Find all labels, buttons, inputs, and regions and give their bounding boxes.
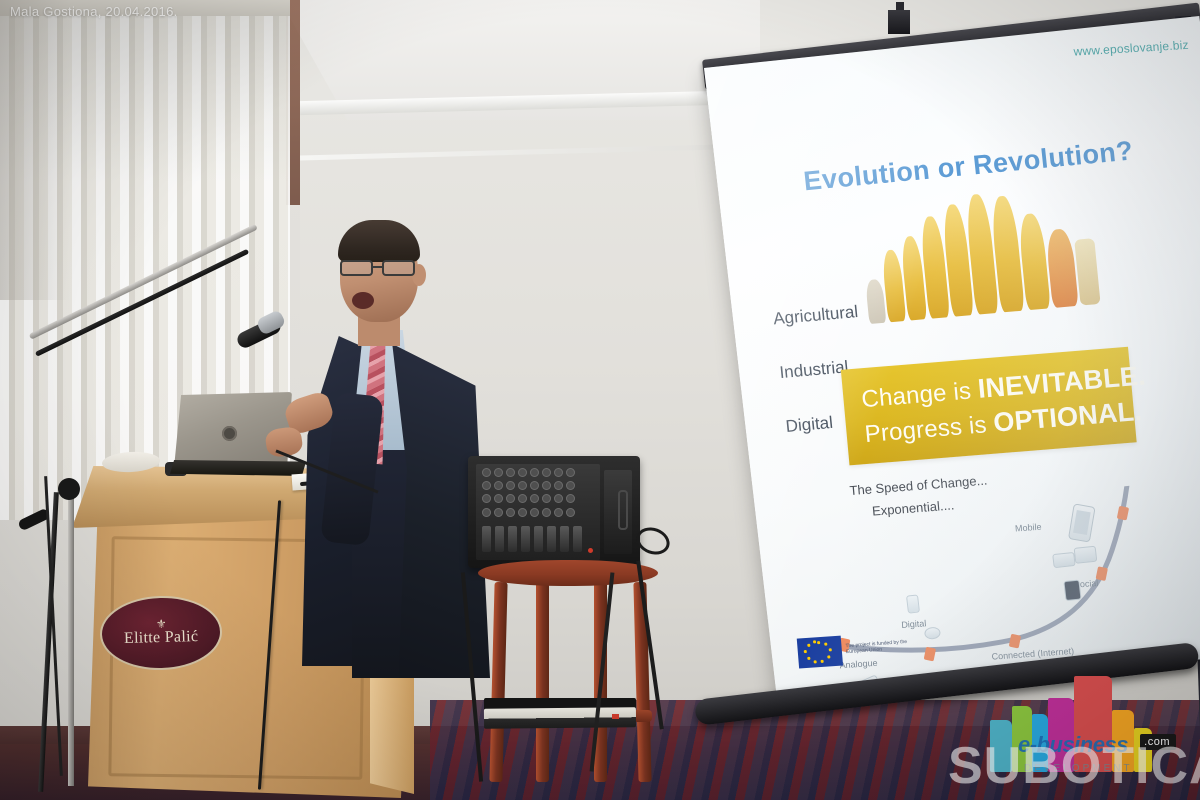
curve-label-mobile: Mobile bbox=[1015, 522, 1042, 534]
projected-slide: www.eposlovanje.biz Evolution or Revolut… bbox=[704, 16, 1200, 704]
mixer-knob-row-3[interactable] bbox=[482, 494, 598, 503]
laptop-base bbox=[170, 460, 306, 476]
projection-screen-assembly: www.eposlovanje.biz Evolution or Revolut… bbox=[690, 10, 1200, 770]
mixer-fader-row[interactable] bbox=[482, 526, 598, 552]
quote-2-bold: OPTIONAL. bbox=[992, 396, 1143, 438]
photo-caption: Mala Gostiona, 20.04.2016. bbox=[10, 4, 178, 19]
pc-icon bbox=[906, 594, 920, 613]
table-top bbox=[478, 560, 658, 586]
mixer-knob-row-4[interactable] bbox=[482, 508, 598, 517]
twitter-icon bbox=[1052, 552, 1075, 568]
mixer-handle[interactable] bbox=[618, 490, 628, 530]
march-of-progress-icon bbox=[857, 176, 1101, 324]
window-shadow bbox=[0, 0, 70, 300]
mixer-control-panel[interactable] bbox=[476, 464, 600, 560]
mixer-power-led bbox=[588, 548, 593, 553]
audio-mixer[interactable] bbox=[468, 456, 640, 568]
eu-flag-icon bbox=[797, 636, 843, 669]
hair bbox=[338, 220, 420, 262]
photo-watermark: SUBOTICA bbox=[948, 736, 1200, 796]
plaque-label: Elitte Palić bbox=[124, 628, 199, 648]
facebook-icon bbox=[1074, 546, 1098, 564]
quote-1-plain: Change is bbox=[860, 377, 979, 413]
quote-box: Change is INEVITABLE. Progress is OPTION… bbox=[841, 347, 1137, 466]
lens-left bbox=[340, 260, 373, 276]
era-label-agricultural: Agricultural bbox=[772, 302, 859, 329]
rack-power-led bbox=[612, 714, 619, 719]
speed-of-change-line-1: The Speed of Change... bbox=[849, 473, 988, 499]
mouth bbox=[352, 292, 374, 309]
plaque-ornament-icon: ⚜ bbox=[156, 619, 166, 628]
era-label-digital: Digital bbox=[785, 413, 834, 437]
slide-url: www.eposlovanje.biz bbox=[1073, 38, 1189, 59]
curve-label-digital: Digital bbox=[901, 618, 927, 630]
side-table bbox=[478, 560, 658, 790]
mic-stand-pole bbox=[68, 486, 74, 786]
google-plus-icon bbox=[1063, 580, 1081, 602]
era-label-industrial: Industrial bbox=[779, 357, 850, 383]
lens-right bbox=[382, 260, 415, 276]
eyeglasses-icon bbox=[338, 260, 422, 276]
mic-clamp[interactable] bbox=[58, 478, 80, 500]
quote-2-plain: Progress is bbox=[864, 411, 995, 448]
photograph: www.eposlovanje.biz Evolution or Revolut… bbox=[0, 0, 1200, 800]
glasses-bridge bbox=[373, 266, 382, 268]
speaker-person bbox=[300, 218, 490, 738]
table-leg bbox=[536, 582, 549, 782]
dell-logo-icon bbox=[222, 426, 237, 441]
table-leg bbox=[489, 582, 507, 782]
mixer-knob-row-2[interactable] bbox=[482, 481, 598, 490]
screen-mount bbox=[888, 10, 910, 34]
mixer-knob-row-1[interactable] bbox=[482, 468, 598, 477]
